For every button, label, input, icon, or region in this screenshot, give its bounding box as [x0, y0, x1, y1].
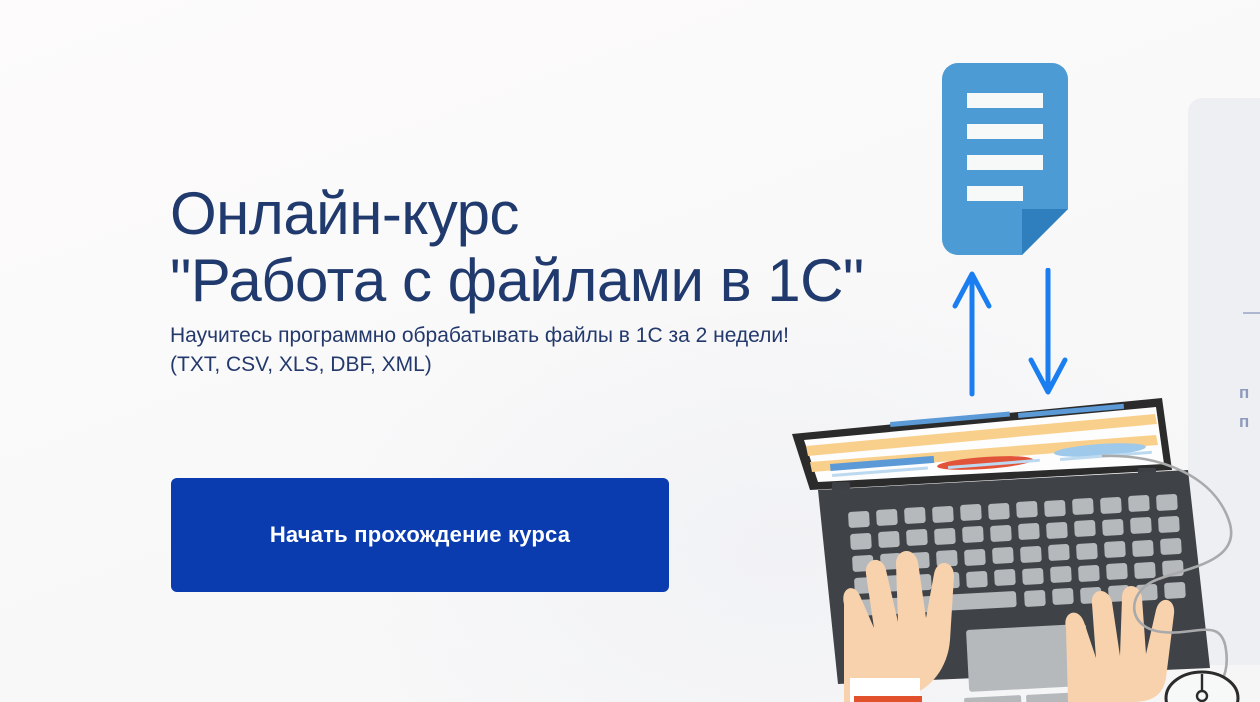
mouse-cable [1102, 456, 1231, 696]
landing-page-hero: п п Онлайн-курс "Работа с файлами в 1С" … [0, 0, 1260, 702]
side-panel-divider [1243, 312, 1260, 314]
document-file-icon [942, 63, 1068, 255]
page-subtitle: Научитесь программно обрабатывать файлы … [170, 321, 930, 379]
page-title: Онлайн-курс "Работа с файлами в 1С" [170, 180, 950, 314]
computer-mouse-icon [1090, 440, 1260, 702]
arrow-up-icon [955, 274, 989, 394]
trackpad-button-left [964, 695, 1022, 702]
start-course-button[interactable]: Начать прохождение курса [171, 478, 669, 592]
arrow-down-icon [1031, 270, 1065, 392]
